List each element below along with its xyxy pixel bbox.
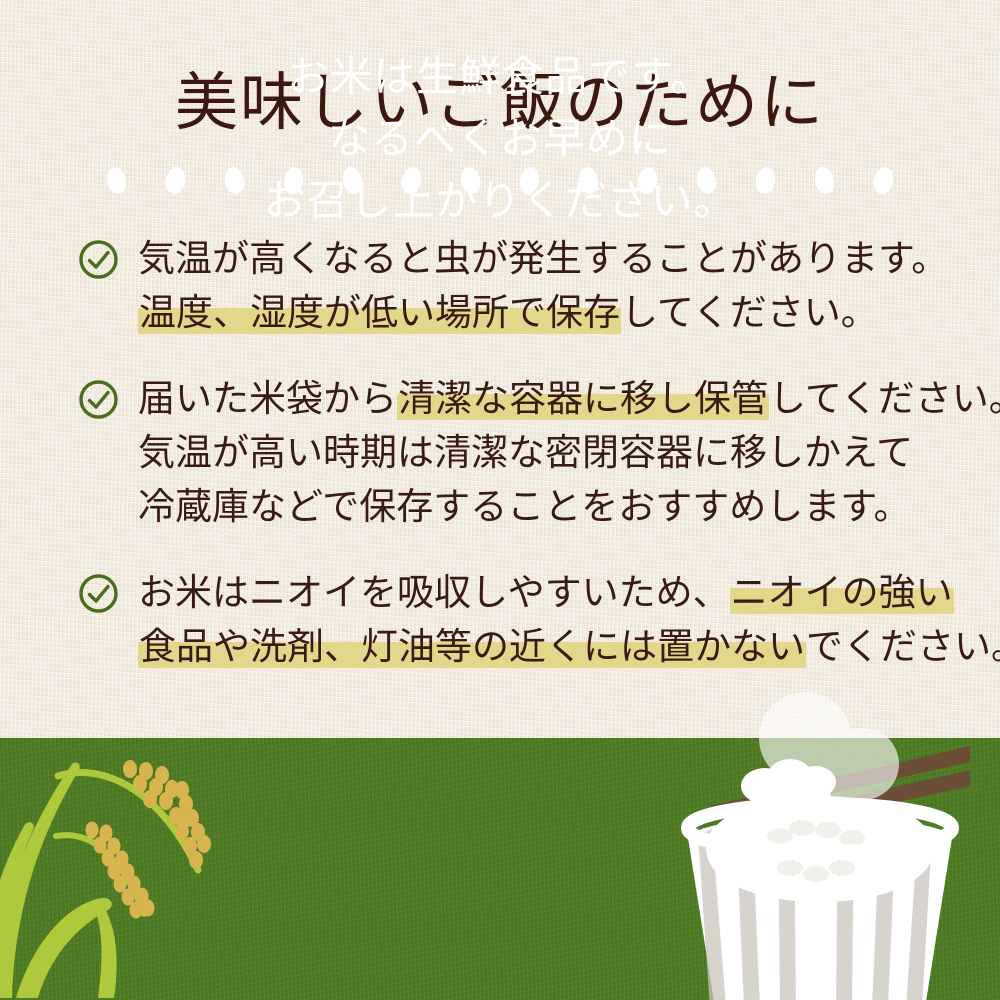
checklist-line: お米はニオイを吸収しやすいため、ニオイの強い	[138, 566, 958, 620]
check-circle-icon	[78, 239, 119, 280]
highlighted-text: 温度、湿度が低い場所で保存	[138, 291, 621, 334]
plain-text: 冷蔵庫などで保存することをおすすめします。	[138, 485, 911, 528]
check-circle-icon	[78, 573, 119, 614]
checklist-line: 温度、湿度が低い場所で保存してください。	[138, 286, 958, 340]
checklist-line: 届いた米袋から清潔な容器に移し保管してください。	[138, 372, 958, 426]
checklist-item-3: お米はニオイを吸収しやすいため、ニオイの強い食品や洗剤、灯油等の近くには置かない…	[78, 566, 958, 674]
footer-line: お召し上がりください。	[0, 170, 1000, 232]
footer-text-block: お米は生鮮食品です。なるべくお早めにお召し上がりください。	[0, 46, 1000, 232]
checklist-line: 食品や洗剤、灯油等の近くには置かないでください。	[138, 620, 958, 674]
checklist: 気温が高くなると虫が発生することがあります。温度、湿度が低い場所で保存してくださ…	[78, 232, 958, 674]
plain-text: お米はニオイを吸収しやすいため、	[138, 571, 730, 614]
checklist-line: 気温が高くなると虫が発生することがあります。	[138, 232, 958, 286]
plain-text: でください。	[806, 625, 1000, 668]
plain-text: 気温が高い時期は清潔な密閉容器に移しかえて	[138, 431, 913, 474]
rice-storage-infographic: 美味しいご飯のために 気温が高くなると虫が発生することがあります。温度、湿度が低…	[0, 0, 1000, 1000]
rice-plant-illustration	[0, 738, 320, 1000]
plain-text: してください。	[621, 291, 878, 334]
checklist-line: 気温が高い時期は清潔な密閉容器に移しかえて	[138, 426, 958, 480]
highlighted-text: 清潔な容器に移し保管	[397, 377, 769, 420]
plain-text: 気温が高くなると虫が発生することがあります。	[138, 237, 948, 280]
check-circle-icon	[78, 379, 119, 420]
footer-line: お米は生鮮食品です。	[0, 46, 1000, 108]
checklist-line: 冷蔵庫などで保存することをおすすめします。	[138, 480, 958, 534]
plain-text: してください。	[769, 377, 1000, 420]
steam-illustration	[735, 690, 945, 840]
footer-line: なるべくお早めに	[0, 108, 1000, 170]
checklist-item-1: 気温が高くなると虫が発生することがあります。温度、湿度が低い場所で保存してくださ…	[78, 232, 958, 340]
highlighted-text: 食品や洗剤、灯油等の近くには置かない	[138, 625, 806, 668]
highlighted-text: ニオイの強い	[730, 571, 954, 614]
checklist-item-2: 届いた米袋から清潔な容器に移し保管してください。気温が高い時期は清潔な密閉容器に…	[78, 372, 958, 534]
plain-text: 届いた米袋から	[138, 377, 397, 420]
